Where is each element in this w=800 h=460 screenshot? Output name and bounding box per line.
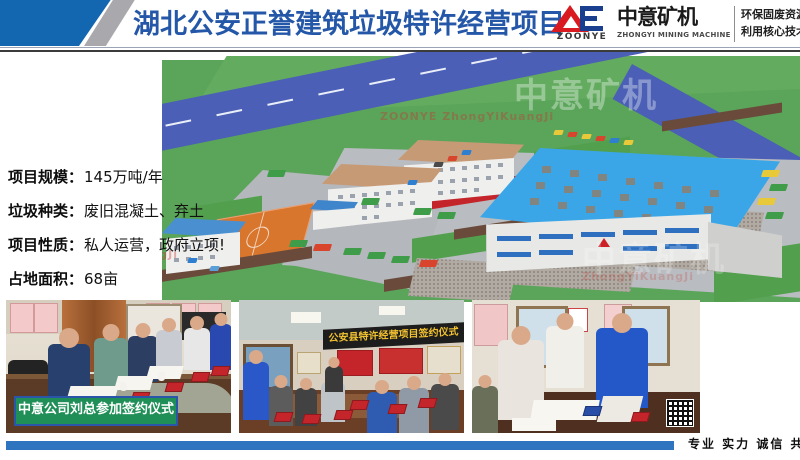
photo2-person: [243, 362, 269, 420]
photo-strip: 中意公司刘总参加签约仪式 公安县特许经营项目签约仪式: [6, 300, 706, 435]
photo1-poster: [34, 303, 58, 333]
logo-brand-en-sub: ZHONGYI MINING MACHINE: [617, 31, 729, 39]
photo1-nameplate: [191, 372, 211, 382]
logo-brand-cn: 中意矿机: [617, 5, 727, 29]
photo2-wall-poster: [379, 348, 423, 374]
info-value: 145万吨/年: [84, 166, 163, 187]
photo2-wall-poster: [297, 352, 321, 374]
info-row: 项目规模： 145万吨/年: [8, 166, 238, 187]
photo1-nameplate: [165, 382, 185, 392]
photo1-cup: [158, 372, 165, 381]
photo2-wall-poster: [427, 346, 461, 374]
render-truck: [413, 208, 432, 215]
factory-side-wall: [708, 222, 782, 278]
render-truck: [313, 244, 332, 251]
info-row: 占地面积： 68亩: [8, 268, 238, 289]
info-row: 项目性质： 私人运营，政府立项!: [8, 234, 238, 255]
render-main-factory: [480, 148, 780, 276]
info-key: 垃圾种类：: [8, 200, 83, 221]
photo3-person: [546, 326, 584, 388]
photo1-person: [184, 328, 210, 370]
render-car: [553, 130, 564, 135]
photo1-document: [146, 366, 184, 379]
photo2-nameplate: [418, 398, 438, 408]
road-dash: [420, 68, 446, 75]
project-info-list: 项目规模： 145万吨/年 垃圾种类： 废旧混凝土、弃土 项目性质： 私人运营，…: [8, 166, 238, 302]
render-truck: [765, 212, 784, 219]
render-car: [567, 132, 578, 137]
road-dash: [369, 78, 395, 85]
render-car: [595, 136, 606, 141]
qr-code: [666, 399, 694, 427]
info-value: 68亩: [84, 268, 118, 289]
render-car: [433, 162, 444, 167]
render-car: [581, 134, 592, 139]
info-key: 占地面积：: [8, 268, 83, 289]
road-dash: [471, 57, 497, 64]
page-title: 湖北公安正誉建筑垃圾特许经营项目: [133, 4, 548, 46]
photo2-nameplate: [274, 412, 294, 422]
header-thin-rule: [0, 47, 800, 48]
render-truck: [437, 212, 456, 219]
photo2-person: [325, 366, 343, 392]
road-dash: [318, 88, 344, 95]
photo2-nameplate: [302, 414, 322, 424]
footer-slogan: 专业 实力 诚信 共赢: [688, 434, 800, 454]
photo-document-signing: [472, 300, 700, 433]
render-guard-house: [310, 200, 358, 230]
render-truck: [367, 252, 386, 259]
render-truck: [761, 170, 780, 177]
photo3-nameplate: [631, 412, 651, 422]
photo3-document: [512, 418, 556, 431]
photo1-poster: [10, 303, 34, 333]
logo-tagline-line2: 利用核心技术和装备: [741, 23, 800, 40]
photo-signing-meeting: 中意公司刘总参加签约仪式: [6, 300, 231, 433]
render-truck: [361, 198, 380, 205]
render-truck: [267, 170, 286, 177]
court-center-circle: [244, 225, 272, 250]
logo-tagline: 环保固废资源化再生 利用核心技术和装备: [741, 6, 800, 40]
render-car: [609, 138, 620, 143]
photo2-person: [431, 384, 459, 430]
info-key: 项目性质：: [8, 234, 83, 255]
triangle-inner-icon: [563, 16, 579, 28]
road-dash: [165, 119, 191, 126]
road-dash: [216, 109, 242, 116]
render-truck: [289, 240, 308, 247]
render-car: [447, 156, 458, 161]
logo-tagline-line1: 环保固废资源化再生: [741, 6, 800, 23]
photo2-nameplate: [334, 410, 354, 420]
photo2-nameplate: [388, 404, 408, 414]
photo2-nameplate: [350, 400, 370, 410]
photo1-nameplate: [211, 366, 231, 376]
render-truck: [769, 184, 788, 191]
logo-e-bar-bottom: [582, 26, 603, 31]
page-header: 湖北公安正誉建筑垃圾特许经营项目 ZOONYE 中意矿机 ZHONGYI MIN…: [0, 0, 800, 52]
render-car: [623, 140, 634, 145]
info-key: 项目规模：: [8, 166, 83, 187]
photo-caption: 中意公司刘总参加签约仪式: [14, 396, 178, 426]
info-value: 私人运营，政府立项!: [84, 234, 225, 255]
slide-page: 湖北公安正誉建筑垃圾特许经营项目 ZOONYE 中意矿机 ZHONGYI MIN…: [0, 0, 800, 460]
render-car: [461, 150, 472, 155]
photo1-person: [156, 330, 182, 370]
render-truck: [391, 256, 410, 263]
render-truck: [419, 260, 438, 267]
photo-conference-hall: 公安县特许经营项目签约仪式: [239, 300, 464, 433]
building-wall: [313, 208, 355, 230]
road-dash: [267, 99, 293, 106]
road-dash: [522, 52, 548, 54]
logo-e-bar-top: [582, 6, 603, 11]
render-truck: [757, 198, 776, 205]
photo3-person: [472, 386, 498, 433]
photo1-cup: [120, 382, 127, 391]
footer-bar: [6, 441, 674, 450]
render-car: [407, 180, 418, 185]
company-logo: ZOONYE 中意矿机 ZHONGYI MINING MACHINE 环保固废资…: [549, 2, 800, 48]
photo1-person: [210, 324, 231, 370]
logo-divider: [734, 6, 735, 42]
facility-3d-render: 中意矿机 ZOONYE ZhongYiKuangJi 中意矿机 ZhongYiK…: [162, 52, 800, 302]
info-row: 垃圾种类： 废旧混凝土、弃土: [8, 200, 238, 221]
factory-logo-icon: [598, 238, 610, 247]
render-truck: [343, 248, 362, 255]
logo-brand-en: ZOONYE: [549, 32, 615, 42]
photo3-nameplate: [583, 406, 603, 416]
logo-e-spine: [580, 6, 585, 31]
info-value: 废旧混凝土、弃土: [84, 200, 204, 221]
